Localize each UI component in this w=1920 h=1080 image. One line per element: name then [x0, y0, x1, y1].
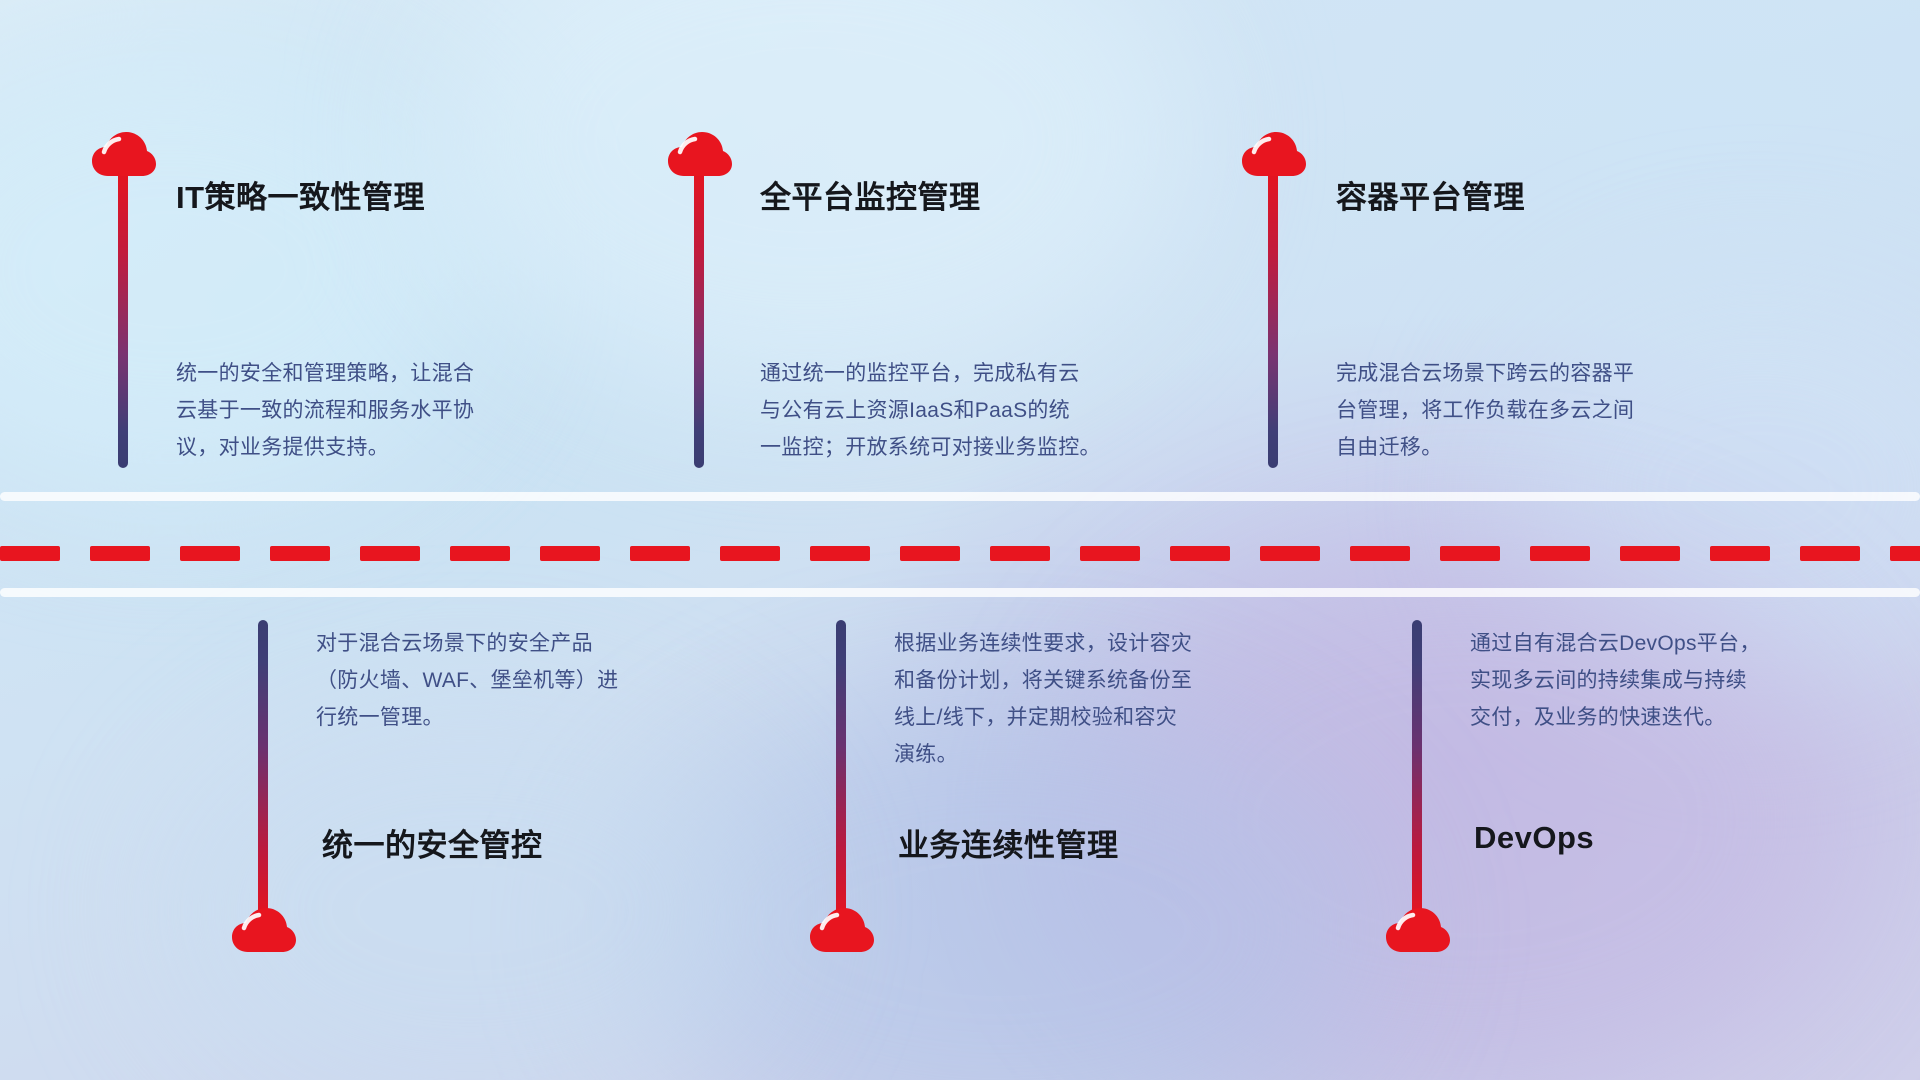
item-description: 统一的安全和管理策略，让混合 云基于一致的流程和服务水平协 议，对业务提供支持。 — [176, 355, 606, 466]
background-blob — [160, 700, 780, 1080]
divider-rail-top — [0, 492, 1920, 501]
divider-dash — [1800, 546, 1860, 561]
item-description: 完成混合云场景下跨云的容器平 台管理，将工作负载在多云之间 自由迁移。 — [1336, 355, 1766, 466]
item-description: 根据业务连续性要求，设计容灾 和备份计划，将关键系统备份至 线上/线下，并定期校… — [894, 625, 1324, 773]
item-title: 统一的安全管控 — [322, 820, 543, 865]
item-title: DevOps — [1474, 820, 1594, 856]
divider-rail-bottom — [0, 588, 1920, 597]
item-title: IT策略一致性管理 — [176, 172, 425, 217]
stem-line — [1268, 168, 1278, 468]
stem-line — [118, 168, 128, 468]
item-title: 业务连续性管理 — [898, 820, 1119, 865]
divider-dash — [630, 546, 690, 561]
divider-dash — [1170, 546, 1230, 561]
cloud-icon — [810, 908, 874, 954]
divider-dash — [990, 546, 1050, 561]
divider-dash — [1440, 546, 1500, 561]
divider-dash — [1620, 546, 1680, 561]
divider-dash — [180, 546, 240, 561]
divider-dash — [900, 546, 960, 561]
divider-dash — [360, 546, 420, 561]
cloud-icon — [92, 132, 156, 178]
divider-dash — [1890, 546, 1920, 561]
divider-dash — [1080, 546, 1140, 561]
divider-dash — [450, 546, 510, 561]
item-title: 全平台监控管理 — [760, 172, 981, 217]
cloud-icon — [1386, 908, 1450, 954]
stem-line — [836, 620, 846, 920]
infographic-canvas: IT策略一致性管理 统一的安全和管理策略，让混合 云基于一致的流程和服务水平协 … — [0, 0, 1920, 1080]
divider-dash — [720, 546, 780, 561]
divider-dash — [810, 546, 870, 561]
divider-dash — [1260, 546, 1320, 561]
divider-dash — [0, 546, 60, 561]
cloud-icon — [1242, 132, 1306, 178]
stem-line — [258, 620, 268, 920]
divider-dash — [270, 546, 330, 561]
divider-dash — [90, 546, 150, 561]
divider-dash — [540, 546, 600, 561]
cloud-icon — [232, 908, 296, 954]
item-description: 通过自有混合云DevOps平台， 实现多云间的持续集成与持续 交付，及业务的快速… — [1470, 625, 1890, 736]
item-description: 对于混合云场景下的安全产品 （防火墙、WAF、堡垒机等）进 行统一管理。 — [316, 625, 736, 736]
divider-dash — [1530, 546, 1590, 561]
dashed-road-divider — [0, 546, 1920, 561]
stem-line — [694, 168, 704, 468]
divider-dash — [1710, 546, 1770, 561]
background-blob — [1080, 540, 1860, 1080]
stem-line — [1412, 620, 1422, 920]
item-title: 容器平台管理 — [1336, 172, 1525, 217]
cloud-icon — [668, 132, 732, 178]
item-description: 通过统一的监控平台，完成私有云 与公有云上资源IaaS和PaaS的统 一监控；开… — [760, 355, 1210, 466]
divider-dash — [1350, 546, 1410, 561]
